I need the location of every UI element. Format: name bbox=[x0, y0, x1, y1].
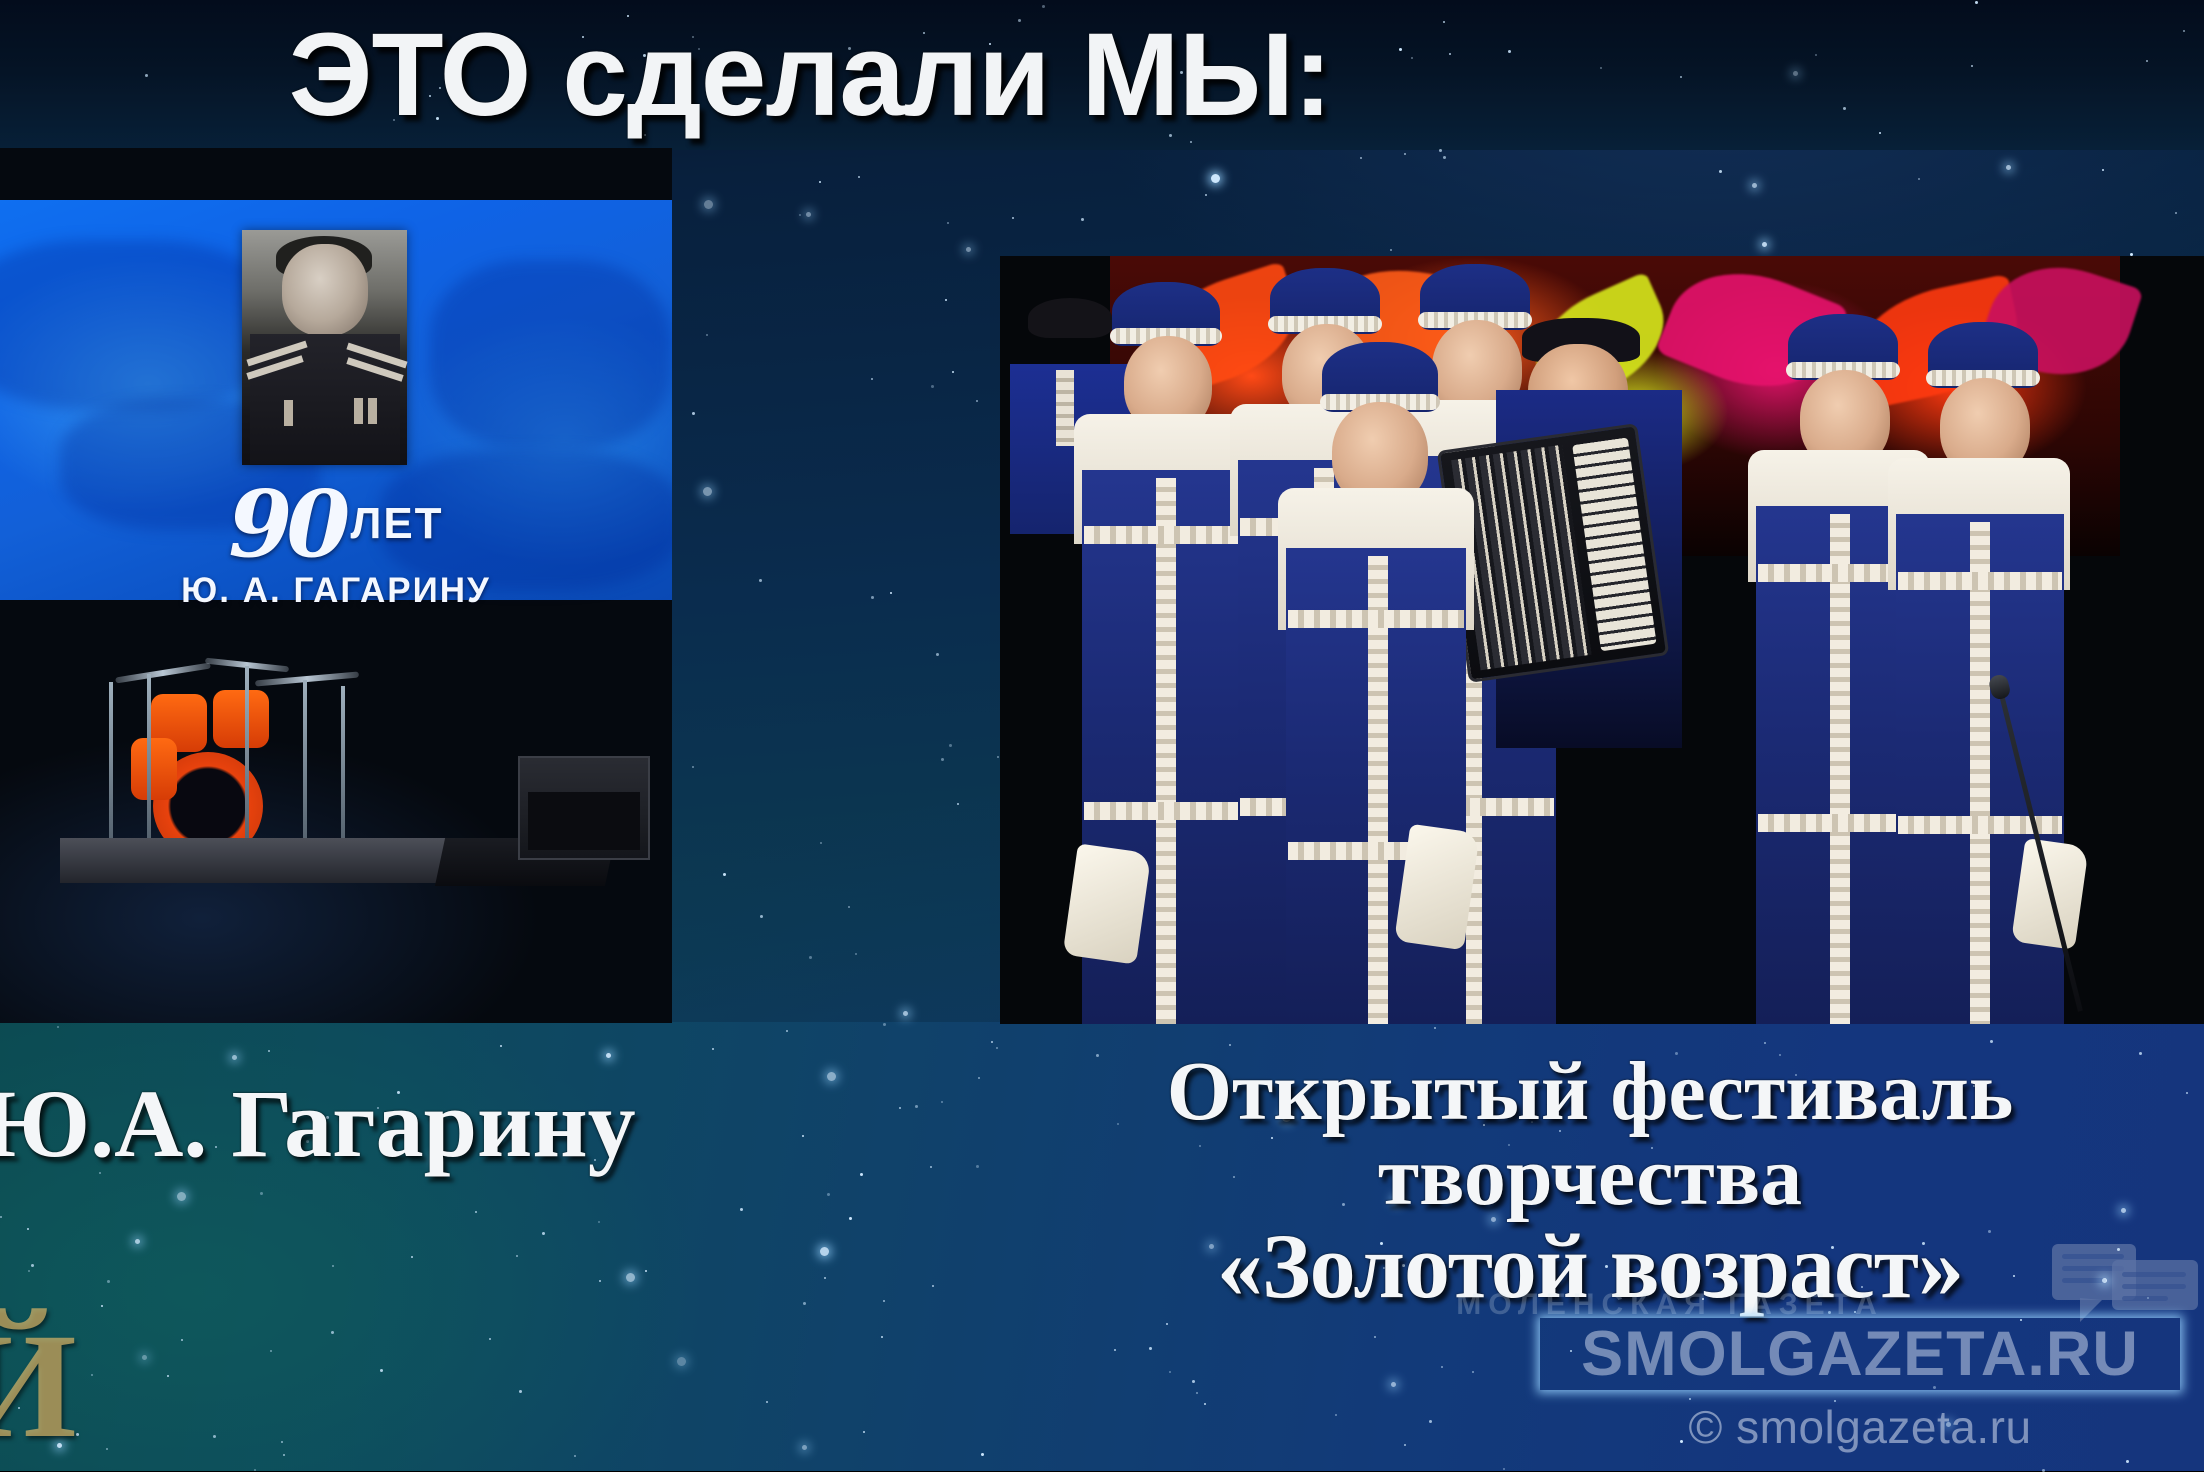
caption-right: Открытый фестиваль творчества «Золотой в… bbox=[1060, 1050, 2120, 1313]
amplifier-cabinet bbox=[518, 756, 650, 860]
caption-right-line-1: Открытый фестиваль bbox=[1060, 1050, 2120, 1135]
portrait-uniform bbox=[250, 334, 400, 464]
presentation-slide: ЭТО сделали МЫ: bbox=[0, 0, 2204, 1471]
choir-singer bbox=[1880, 322, 2076, 1024]
drum-kit bbox=[95, 656, 395, 861]
tom-drum bbox=[213, 690, 269, 748]
choir-soloist bbox=[1270, 342, 1482, 1024]
decorative-gold-letter: Й bbox=[0, 1300, 380, 1471]
anniversary-unit: ЛЕТ bbox=[350, 499, 443, 548]
caption-right-line-2: творчества bbox=[1060, 1135, 2120, 1220]
caption-left: Ю.А. Гагарину bbox=[0, 1068, 942, 1179]
accordion-player bbox=[1460, 318, 1720, 748]
photo-panel-choir bbox=[1000, 256, 2204, 1024]
cymbal bbox=[115, 663, 211, 684]
cymbal bbox=[255, 671, 359, 686]
anniversary-logo: 90ЛЕТ Ю. А. ГАГАРИНУ bbox=[0, 482, 672, 611]
anniversary-honoree: Ю. А. ГАГАРИНУ bbox=[0, 571, 672, 611]
gagarin-portrait bbox=[242, 230, 407, 465]
photo-panel-gagarin: 90ЛЕТ Ю. А. ГАГАРИНУ bbox=[0, 148, 672, 1023]
floor-tom bbox=[131, 738, 177, 800]
portrait-face bbox=[282, 244, 368, 336]
led-screen-gagarin: 90ЛЕТ Ю. А. ГАГАРИНУ bbox=[0, 200, 672, 600]
caption-right-line-3: «Золотой возраст» bbox=[1060, 1220, 2120, 1313]
anniversary-number: 90 bbox=[228, 470, 344, 578]
page-title: ЭТО сделали МЫ: bbox=[0, 0, 1620, 150]
stage-riser bbox=[60, 838, 490, 883]
